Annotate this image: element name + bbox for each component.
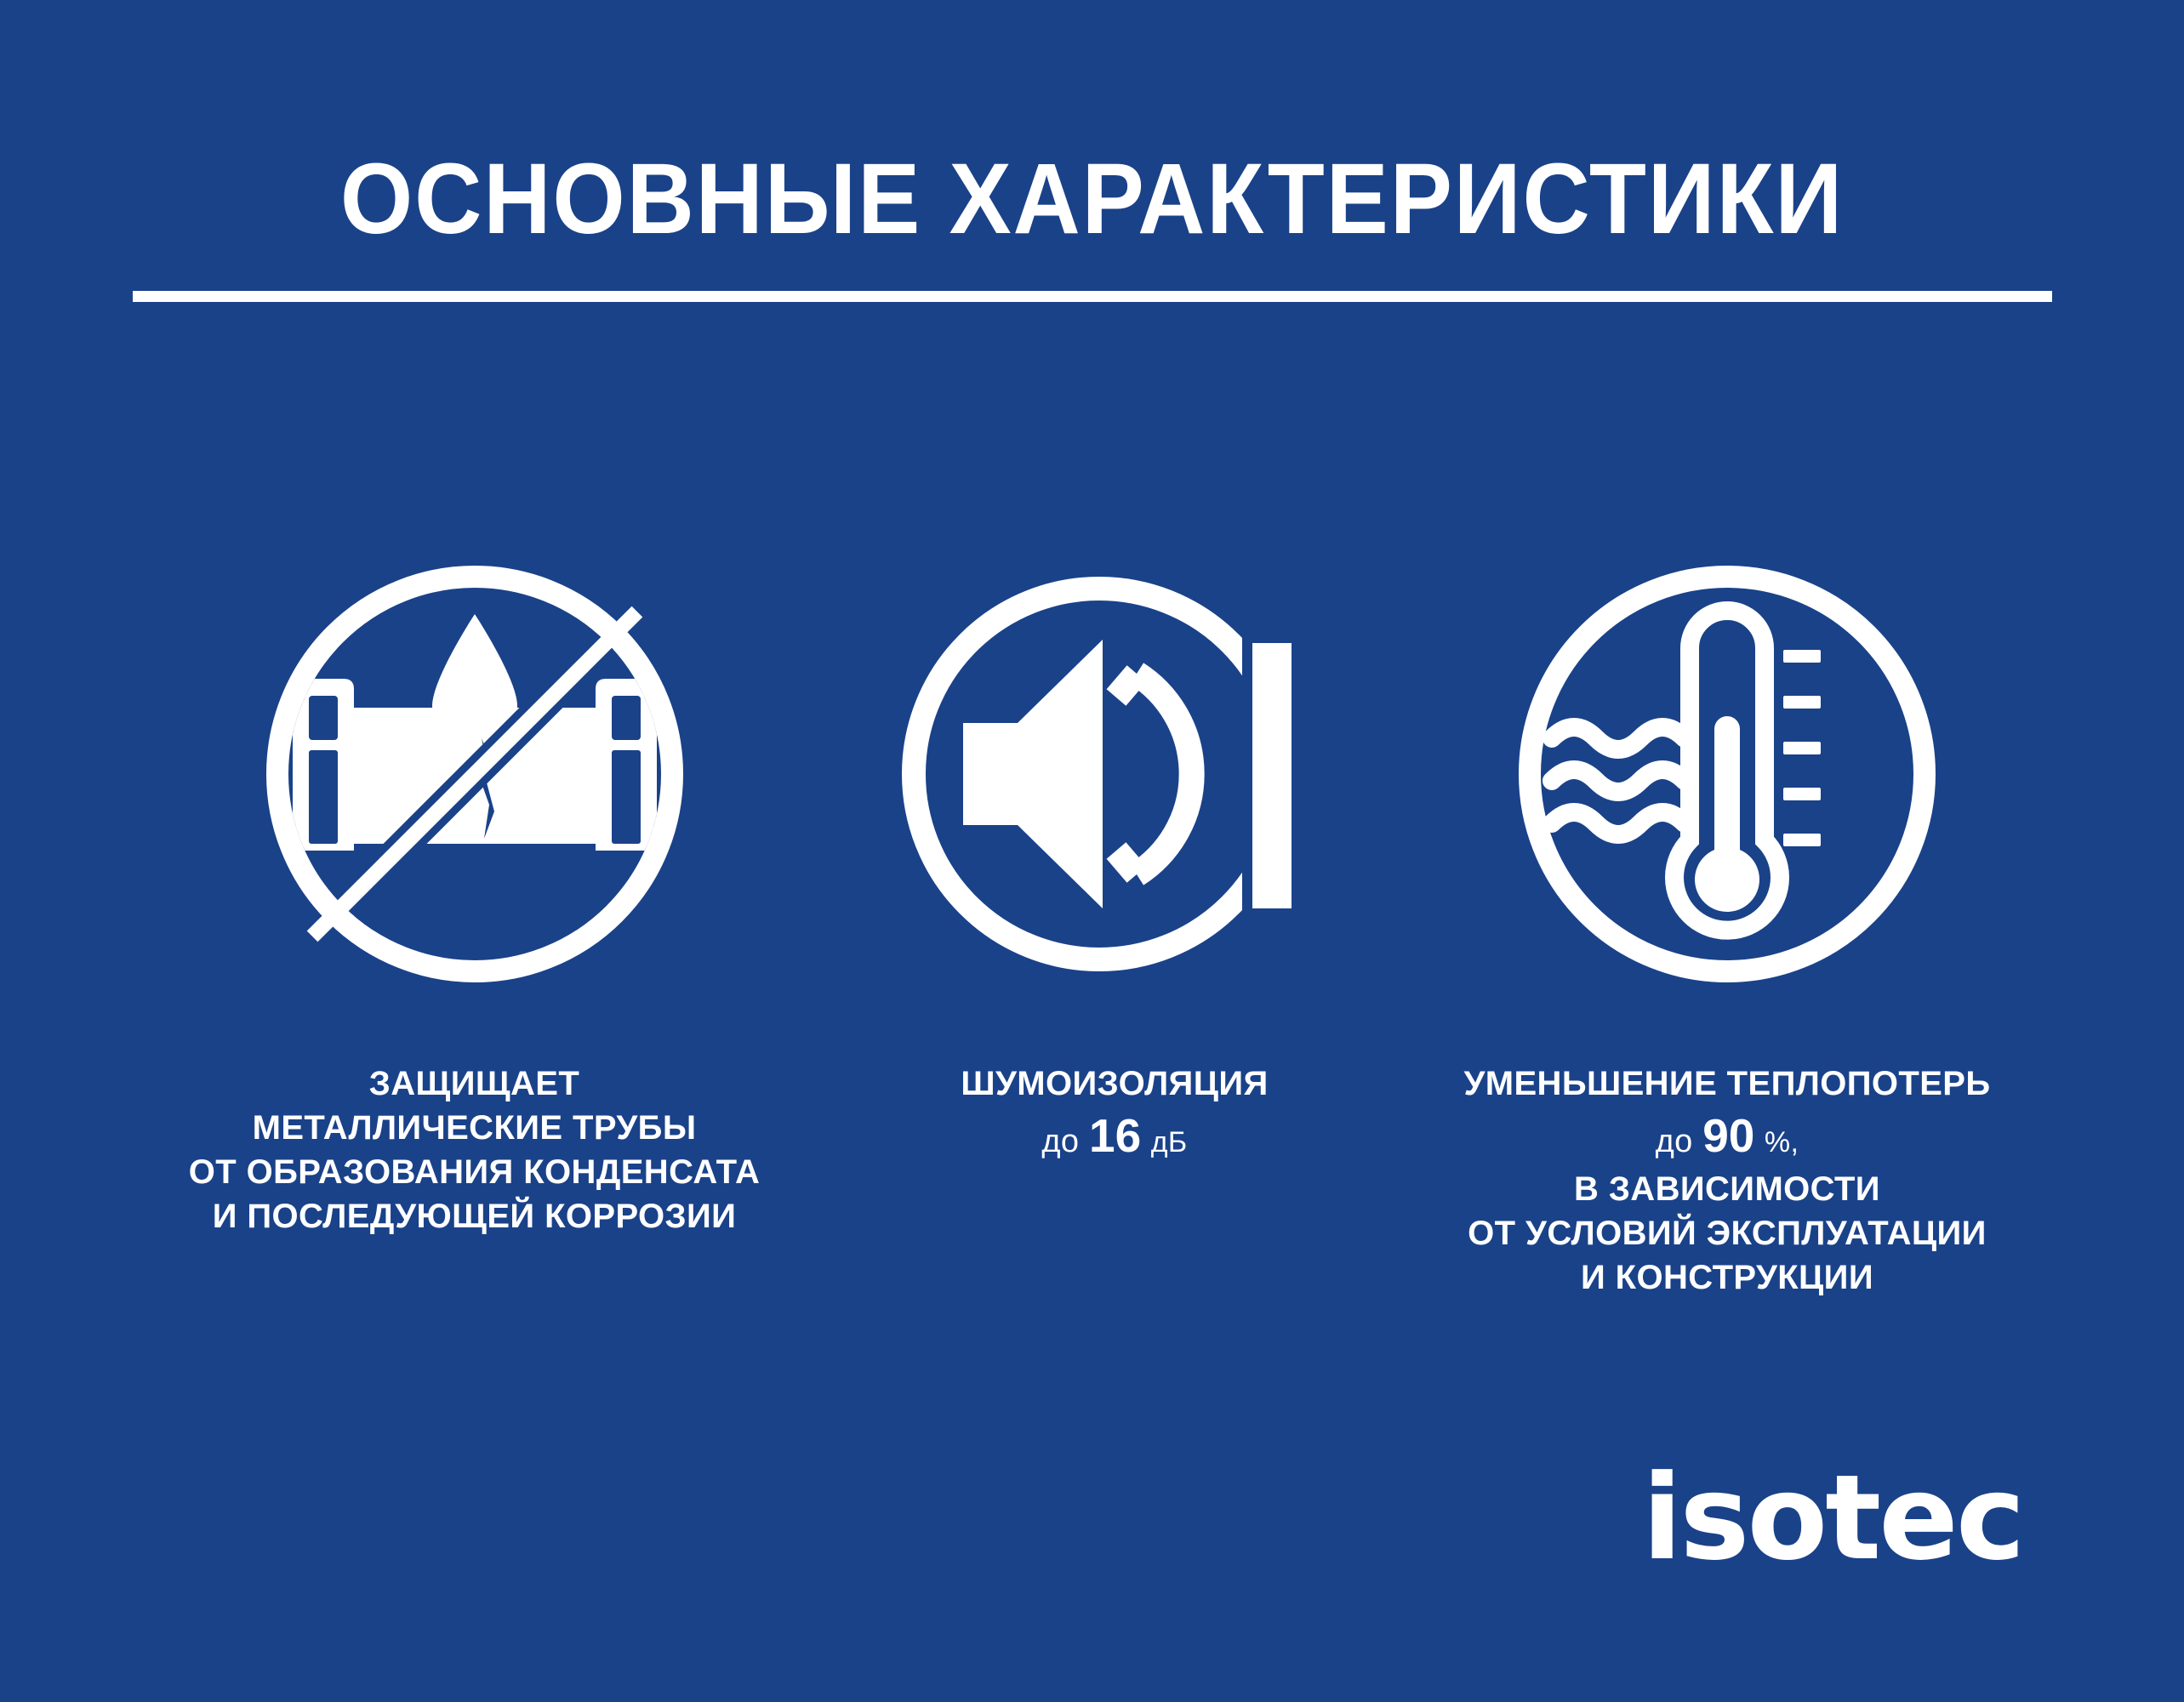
caption-line: ОТ УСЛОВИЙ ЭКСПЛУАТАЦИИ (1378, 1211, 2076, 1255)
caption-line: ОТ ОБРАЗОВАНИЯ КОНДЕНСАТА (47, 1150, 902, 1194)
caption-value-line: до 90 %, (1378, 1106, 2076, 1167)
value-number: 16 (1089, 1109, 1141, 1162)
feature-item-sound-insulation: ШУМОИЗОЛЯЦИЯ до 16 дБ (859, 561, 1370, 1167)
title-divider (133, 291, 2052, 302)
caption-line: И КОНСТРУКЦИИ (1378, 1255, 2076, 1300)
value-prefix: до (1656, 1124, 1693, 1159)
feature-caption-condensation: ЗАЩИЩАЕТ МЕТАЛЛИЧЕСКИЕ ТРУБЫ ОТ ОБРАЗОВА… (47, 1062, 902, 1238)
caption-line: ЗАЩИЩАЕТ (47, 1062, 902, 1106)
feature-caption-heat-loss: УМЕНЬШЕНИЕ ТЕПЛОПОТЕРЬ до 90 %, В ЗАВИСИ… (1378, 1062, 2076, 1300)
page-title: ОСНОВНЫЕ ХАРАКТЕРИСТИКИ (77, 149, 2107, 249)
value-number: 90 (1702, 1109, 1754, 1162)
thermometer-heat-waves-icon (1514, 561, 1940, 987)
brand-logo: isotec (1642, 1460, 2023, 1577)
sound-insulation-icon (902, 561, 1327, 987)
caption-line: И ПОСЛЕДУЮЩЕЙ КОРРОЗИИ (47, 1194, 902, 1238)
caption-line: ШУМОИЗОЛЯЦИЯ (859, 1062, 1370, 1106)
header: ОСНОВНЫЕ ХАРАКТЕРИСТИКИ (0, 0, 2184, 323)
feature-caption-sound-insulation: ШУМОИЗОЛЯЦИЯ до 16 дБ (859, 1062, 1370, 1167)
value-unit: %, (1765, 1126, 1799, 1158)
caption-line: УМЕНЬШЕНИЕ ТЕПЛОПОТЕРЬ (1378, 1062, 2076, 1106)
feature-list: ЗАЩИЩАЕТ МЕТАЛЛИЧЕСКИЕ ТРУБЫ ОТ ОБРАЗОВА… (0, 561, 2184, 1327)
value-unit: дБ (1151, 1126, 1188, 1158)
caption-line: МЕТАЛЛИЧЕСКИЕ ТРУБЫ (47, 1106, 902, 1150)
value-prefix: до (1041, 1124, 1079, 1159)
feature-item-heat-loss: УМЕНЬШЕНИЕ ТЕПЛОПОТЕРЬ до 90 %, В ЗАВИСИ… (1378, 561, 2076, 1300)
caption-value-line: до 16 дБ (859, 1106, 1370, 1167)
no-condensation-on-pipe-icon (262, 561, 687, 987)
feature-item-condensation: ЗАЩИЩАЕТ МЕТАЛЛИЧЕСКИЕ ТРУБЫ ОТ ОБРАЗОВА… (47, 561, 902, 1238)
caption-line: В ЗАВИСИМОСТИ (1378, 1167, 2076, 1211)
